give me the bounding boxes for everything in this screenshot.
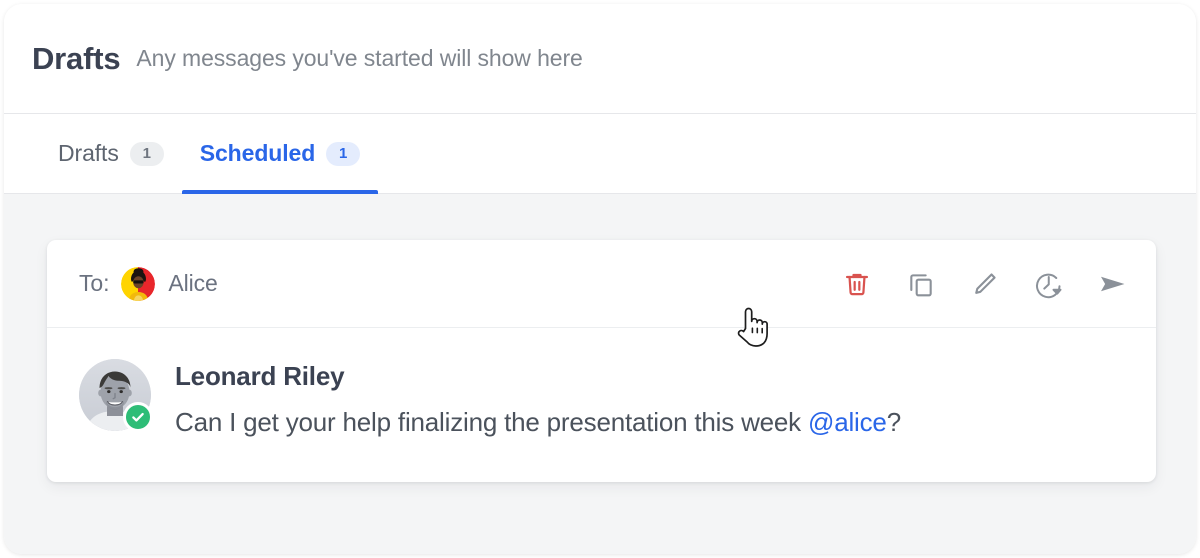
to-label: To: <box>79 270 109 297</box>
mention-alice[interactable]: @alice <box>808 407 887 437</box>
message-column: Leonard Riley Can I get your help finali… <box>175 359 901 438</box>
tab-scheduled-label: Scheduled <box>200 140 315 167</box>
recipient-name: Alice <box>168 270 217 297</box>
sender-avatar-wrap <box>79 359 151 431</box>
app-window: Drafts Any messages you've started will … <box>4 4 1196 554</box>
delete-icon[interactable] <box>840 267 874 301</box>
message-text: Can I get your help finalizing the prese… <box>175 407 901 438</box>
card-body: Leonard Riley Can I get your help finali… <box>47 328 1156 482</box>
page-header: Drafts Any messages you've started will … <box>4 4 1196 114</box>
sender-name: Leonard Riley <box>175 361 901 392</box>
tab-drafts[interactable]: Drafts 1 <box>40 114 182 193</box>
message-text-before: Can I get your help finalizing the prese… <box>175 407 808 437</box>
page-subtitle: Any messages you've started will show he… <box>136 45 582 72</box>
edit-icon[interactable] <box>968 267 1002 301</box>
scheduled-list: To: <box>4 194 1196 554</box>
alice-avatar <box>121 267 155 301</box>
card-header: To: <box>47 240 1156 328</box>
tab-bar: Drafts 1 Scheduled 1 <box>4 114 1196 194</box>
tab-scheduled[interactable]: Scheduled 1 <box>182 114 378 193</box>
send-icon[interactable] <box>1096 267 1130 301</box>
message-text-after: ? <box>887 407 901 437</box>
card-action-toolbar <box>840 267 1130 301</box>
reschedule-icon[interactable] <box>1032 267 1066 301</box>
tab-drafts-label: Drafts <box>58 140 119 167</box>
duplicate-icon[interactable] <box>904 267 938 301</box>
page-title: Drafts <box>32 41 120 77</box>
tab-scheduled-badge: 1 <box>326 142 360 166</box>
scheduled-message-card[interactable]: To: <box>47 240 1156 482</box>
tab-drafts-badge: 1 <box>130 142 164 166</box>
verified-badge-icon <box>123 402 153 432</box>
